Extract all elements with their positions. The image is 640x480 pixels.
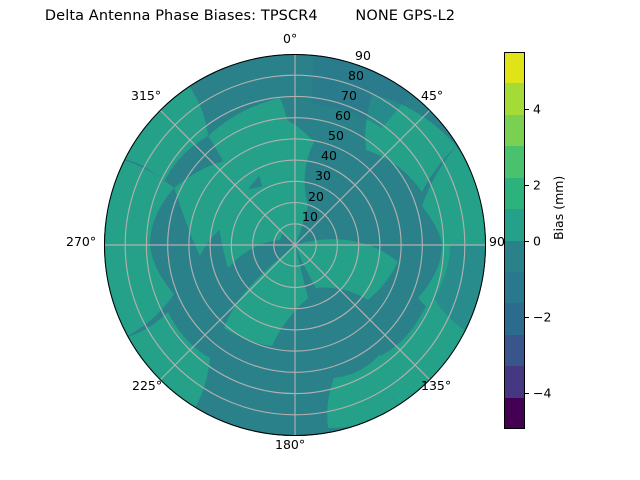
r-tick-label-60: 60 — [335, 108, 351, 123]
colorbar-ticklabel-0: 0 — [533, 233, 541, 248]
r-tick-label-80: 80 — [348, 68, 364, 83]
colorbar-band-7 — [504, 178, 525, 209]
theta-tick-label-315: 315° — [131, 88, 161, 103]
colorbar-band-2 — [504, 335, 525, 366]
colorbar-band-1 — [504, 366, 525, 397]
colorbar-ticklabel-m2: −2 — [533, 309, 551, 324]
colorbar-band-4 — [504, 272, 525, 303]
colorbar-ticklabel-4: 4 — [533, 101, 541, 116]
colorbar-bands — [504, 52, 525, 429]
colorbar-ticklabel-m4: −4 — [533, 386, 551, 401]
r-tick-label-20: 20 — [308, 189, 324, 204]
colorbar-tick-0 — [525, 241, 529, 242]
r-tick-label-40: 40 — [321, 148, 337, 163]
colorbar-tick-m4 — [525, 393, 529, 394]
theta-tick-label-45: 45° — [421, 88, 443, 103]
colorbar-band-10 — [504, 83, 525, 114]
colorbar-tick-4 — [525, 109, 529, 110]
r-tick-label-70: 70 — [341, 88, 357, 103]
colorbar-tick-2 — [525, 185, 529, 186]
theta-tick-label-90: 90° — [489, 234, 504, 249]
figure-canvas: Delta Antenna Phase Biases: TPSCR4 NONE … — [0, 0, 640, 480]
theta-tick-label-270: 270° — [66, 234, 96, 249]
colorbar-band-11 — [504, 52, 525, 83]
theta-tick-label-135: 135° — [421, 378, 451, 393]
theta-tick-label-225: 225° — [132, 378, 162, 393]
theta-tick-label-0: 0° — [283, 31, 297, 46]
colorbar-band-3 — [504, 303, 525, 334]
page-title: Delta Antenna Phase Biases: TPSCR4 NONE … — [0, 8, 500, 24]
colorbar[interactable]: 4 2 0 −2 −4 — [504, 52, 525, 429]
colorbar-ticklabel-2: 2 — [533, 177, 541, 192]
r-tick-label-50: 50 — [328, 128, 344, 143]
r-tick-label-30: 30 — [315, 168, 331, 183]
colorbar-axis-label: Bias (mm) — [551, 176, 566, 240]
colorbar-band-6 — [504, 209, 525, 240]
colorbar-tick-m2 — [525, 317, 529, 318]
colorbar-band-8 — [504, 146, 525, 177]
colorbar-band-0 — [504, 398, 525, 429]
r-tick-label-90: 90 — [355, 48, 371, 63]
colorbar-band-9 — [504, 115, 525, 146]
theta-tick-label-180: 180° — [275, 437, 305, 452]
r-tick-label-10: 10 — [302, 209, 318, 224]
colorbar-band-5 — [504, 241, 525, 272]
